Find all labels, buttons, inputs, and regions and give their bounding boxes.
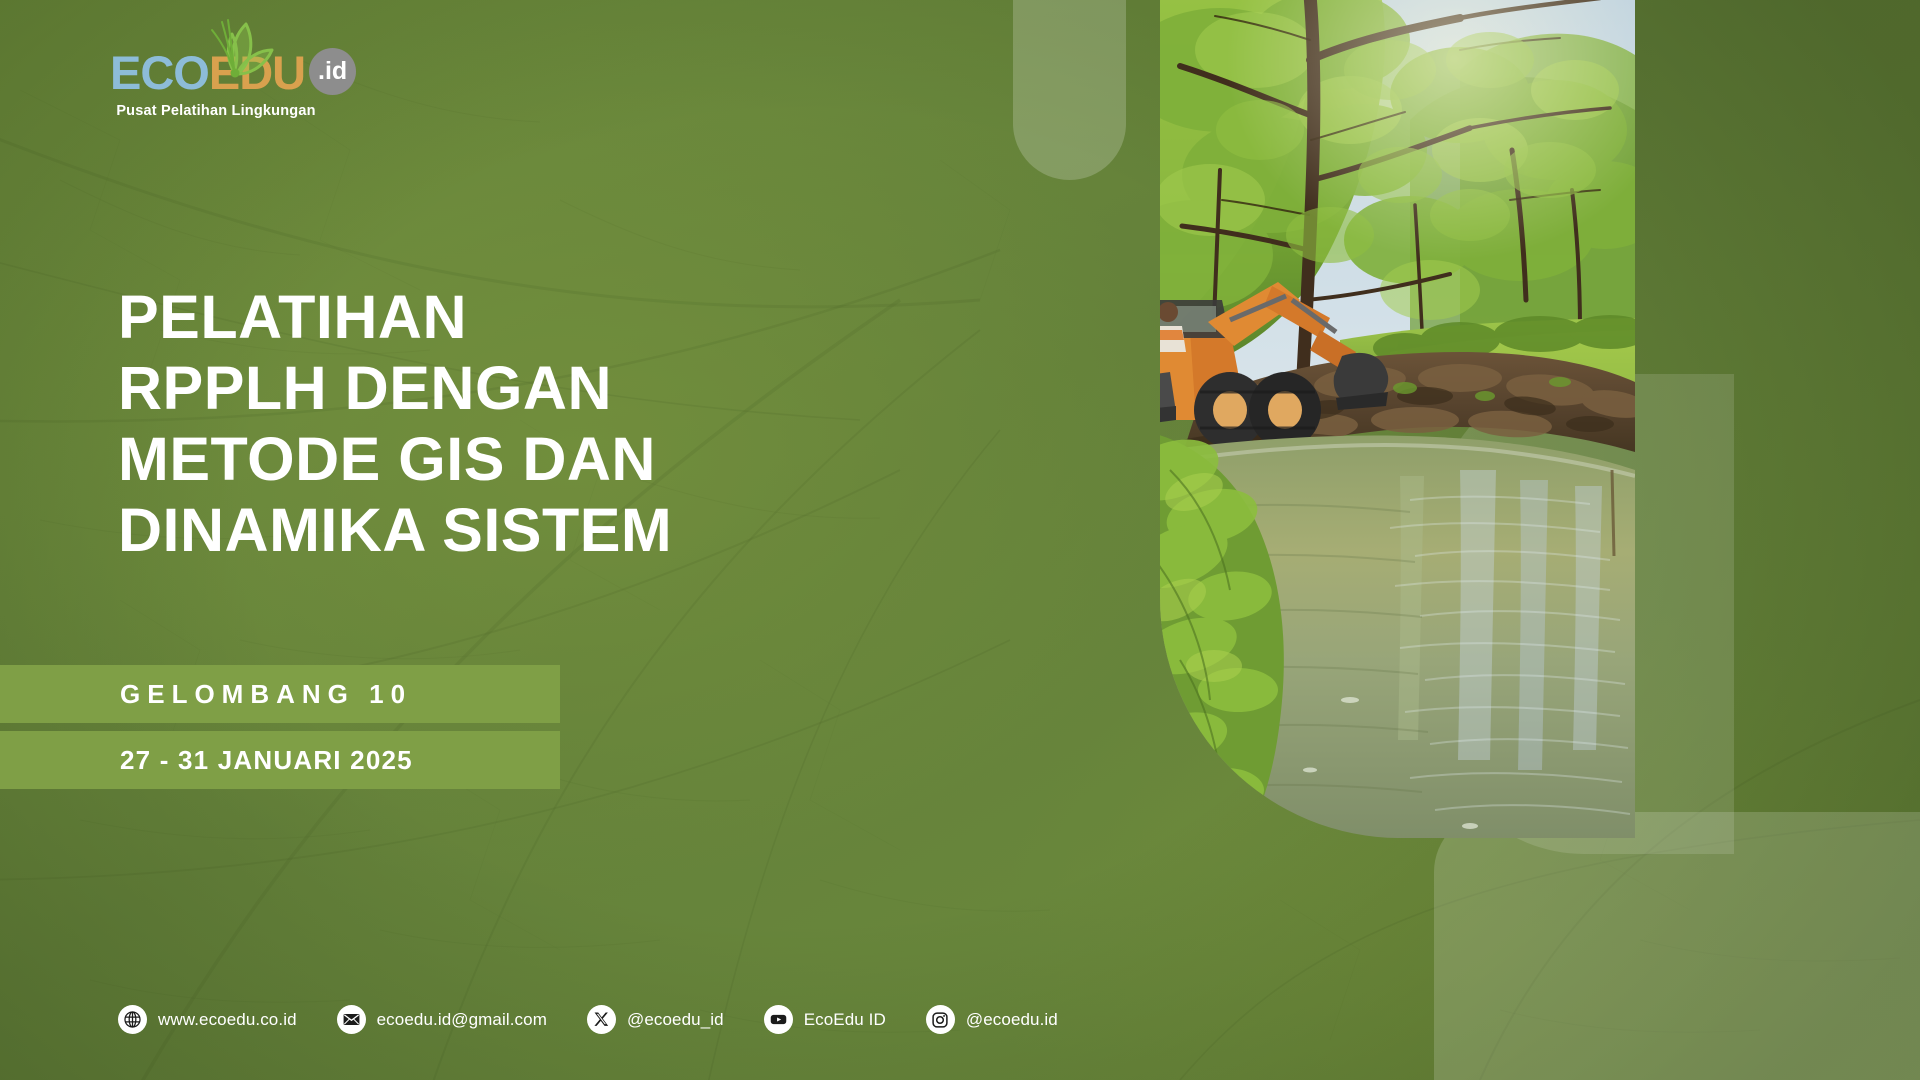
page-title: PELATIHAN RPPLH DENGAN METODE GIS DAN DI… [118,282,672,566]
footer-contact-bar: www.ecoedu.co.id ecoedu.id@gmail.com @ec… [118,1005,1058,1034]
headline-line-4: DINAMIKA SISTEM [118,495,672,566]
footer-instagram-label: @ecoedu.id [966,1010,1058,1030]
decorative-pill-shape [1013,0,1126,180]
logo-domain-badge: .id [309,48,356,95]
youtube-icon [764,1005,793,1034]
footer-item-twitter[interactable]: @ecoedu_id [587,1005,724,1034]
globe-icon [118,1005,147,1034]
footer-item-instagram[interactable]: @ecoedu.id [926,1005,1058,1034]
footer-youtube-label: EcoEdu ID [804,1010,886,1030]
footer-twitter-label: @ecoedu_id [627,1010,724,1030]
headline-line-3: METODE GIS DAN [118,424,672,495]
logo-tagline: Pusat Pelatihan Lingkungan [110,103,322,119]
excavator-riverbank-photo [1160,0,1635,838]
logo-eco-text: ECO [110,49,209,96]
date-badge: 27 - 31 JANUARI 2025 [0,731,560,789]
x-twitter-icon [587,1005,616,1034]
leaf-icon [202,18,274,80]
footer-item-website[interactable]: www.ecoedu.co.id [118,1005,297,1034]
decorative-corner-panel [1434,812,1920,1080]
headline-line-1: PELATIHAN [118,282,672,353]
footer-item-email[interactable]: ecoedu.id@gmail.com [337,1005,547,1034]
ecoedu-logo[interactable]: ECO EDU .id Pusat Pelatihan Lingkungan [110,42,360,122]
gelombang-badge: GELOMBANG 10 [0,665,560,723]
footer-website-label: www.ecoedu.co.id [158,1010,297,1030]
logo-wordmark: ECO EDU .id [110,42,360,96]
footer-email-label: ecoedu.id@gmail.com [377,1010,547,1030]
footer-item-youtube[interactable]: EcoEdu ID [764,1005,886,1034]
headline-line-2: RPPLH DENGAN [118,353,672,424]
envelope-icon [337,1005,366,1034]
instagram-icon [926,1005,955,1034]
